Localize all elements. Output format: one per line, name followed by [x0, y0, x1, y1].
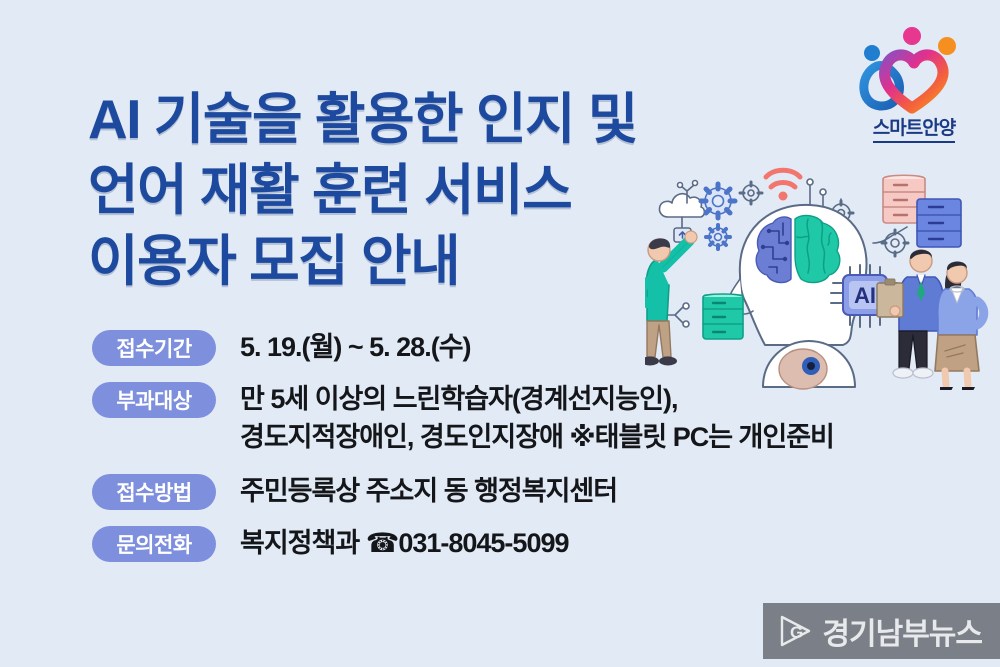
title-line-2: 언어 재활 훈련 서비스 — [88, 155, 728, 226]
title-line-3: 이용자 모집 안내 — [88, 226, 728, 297]
info-label-period: 접수기간 — [92, 330, 216, 366]
info-value-target-line2: 경도지적장애인, 경도인지장애 ※태블릿 PC는 개인준비 — [240, 418, 834, 456]
wifi-dot — [779, 192, 788, 201]
gear-icon-outline-1 — [740, 182, 762, 204]
info-value-phone: 복지정책과 ☎031-8045-5099 — [240, 524, 569, 562]
g-play-logo-icon: G — [777, 613, 813, 649]
info-list: 접수기간 5. 19.(월) ~ 5. 28.(수) 부과대상 만 5세 이상의… — [92, 328, 982, 576]
page-title: AI 기술을 활용한 인지 및 언어 재활 훈련 서비스 이용자 모집 안내 — [88, 84, 728, 297]
wifi-icon — [766, 170, 800, 187]
info-value-target-line1: 만 5세 이상의 느린학습자(경계선지능인), — [240, 380, 834, 418]
server-stack-blue — [917, 199, 961, 247]
info-value-target: 만 5세 이상의 느린학습자(경계선지능인), 경도지적장애인, 경도인지장애 … — [240, 380, 834, 456]
info-label-method: 접수방법 — [92, 474, 216, 510]
gear-icon-small — [706, 225, 730, 249]
info-value-period: 5. 19.(월) ~ 5. 28.(수) — [240, 328, 471, 366]
watermark: G 경기남부뉴스 — [763, 603, 1000, 659]
info-label-phone: 문의전화 — [92, 526, 216, 562]
info-row-period: 접수기간 5. 19.(월) ~ 5. 28.(수) — [92, 328, 982, 366]
info-value-method: 주민등록상 주소지 동 행정복지센터 — [240, 472, 617, 510]
ai-chip-label: AI — [854, 283, 876, 308]
watermark-label: 경기남부뉴스 — [822, 609, 982, 653]
logo-label: 스마트안양 — [873, 118, 955, 143]
smart-anyang-heart-infinity-icon — [846, 22, 982, 118]
gear-icon — [701, 184, 735, 218]
info-row-target: 부과대상 만 5세 이상의 느린학습자(경계선지능인), 경도지적장애인, 경도… — [92, 380, 982, 456]
logo-dot-orange — [938, 37, 956, 55]
svg-text:G: G — [790, 623, 803, 642]
logo-heart — [885, 55, 944, 108]
poster: AI 기술을 활용한 인지 및 언어 재활 훈련 서비스 이용자 모집 안내 — [0, 0, 1000, 667]
logo-dot-blue — [864, 45, 880, 61]
info-row-method: 접수방법 주민등록상 주소지 동 행정복지센터 — [92, 472, 982, 510]
title-line-1: AI 기술을 활용한 인지 및 — [88, 84, 728, 155]
smart-anyang-logo: 스마트안양 — [846, 22, 982, 143]
info-value-method-line1: 주민등록상 주소지 동 행정복지센터 — [240, 472, 617, 510]
logo-dot-magenta — [903, 27, 921, 45]
info-label-target: 부과대상 — [92, 382, 216, 418]
info-row-phone: 문의전화 복지정책과 ☎031-8045-5099 — [92, 524, 982, 562]
info-value-phone-line1: 복지정책과 ☎031-8045-5099 — [240, 524, 569, 562]
cloud-upload-icon — [659, 181, 704, 243]
info-value-period-line1: 5. 19.(월) ~ 5. 28.(수) — [240, 328, 471, 366]
